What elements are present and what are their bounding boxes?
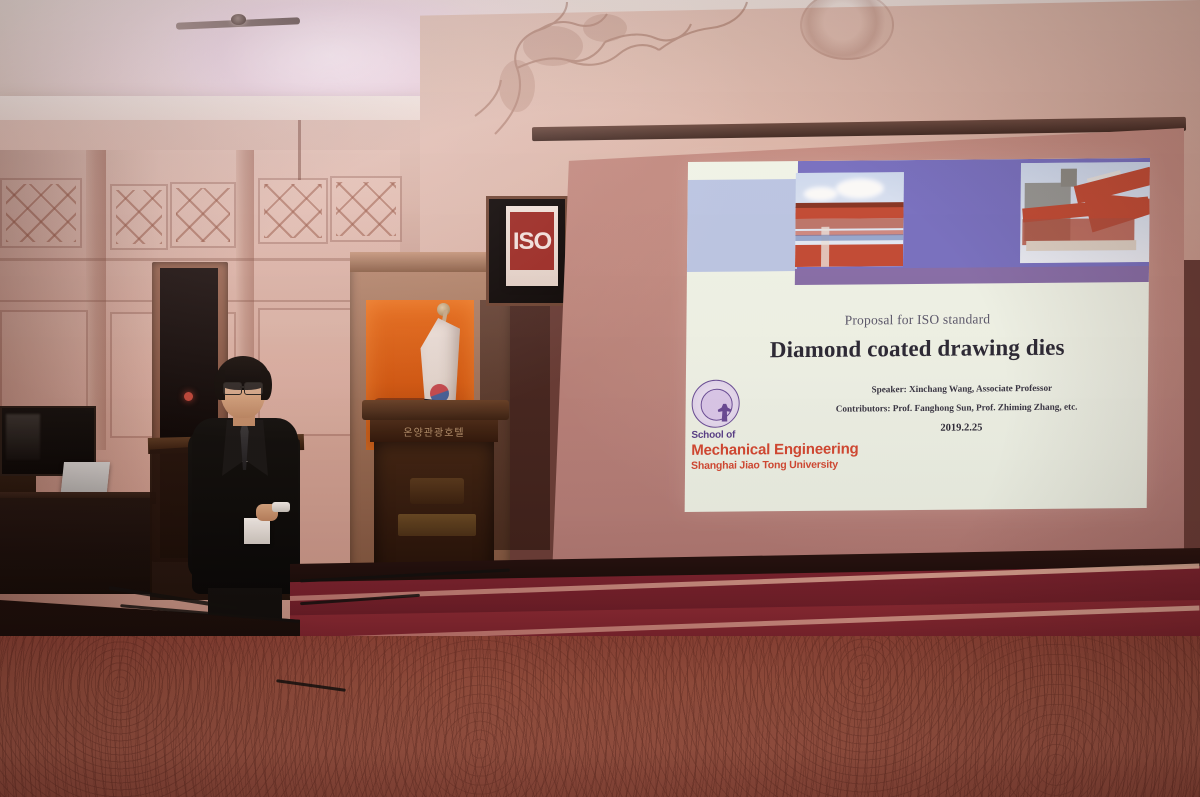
slide-header-banner bbox=[687, 158, 1150, 290]
glasses-lens-icon bbox=[223, 382, 242, 395]
glasses-lens-icon bbox=[244, 382, 263, 395]
sjtu-seal-inner-ring bbox=[701, 389, 733, 421]
glasses-bridge-icon bbox=[240, 386, 245, 388]
slide-footer-line-1: School of bbox=[691, 430, 735, 441]
banner-accent-strip bbox=[795, 266, 1149, 285]
podium-plaque bbox=[398, 514, 476, 536]
sjtu-seal-emblem-icon bbox=[718, 404, 732, 422]
recessed-downlight-icon bbox=[231, 14, 246, 25]
av-table bbox=[0, 498, 152, 594]
podium-venue-sign-text: 온양관광호텔 bbox=[403, 424, 464, 439]
name-badge bbox=[244, 518, 270, 544]
podium-venue-sign: 온양관광호텔 bbox=[370, 420, 498, 442]
slide-footer-line-3: Shanghai Jiao Tong University bbox=[691, 459, 838, 472]
banner-blue-block bbox=[687, 179, 798, 272]
monitor-reflection bbox=[6, 414, 40, 460]
podium-emblem bbox=[410, 478, 464, 504]
podium-top-surface bbox=[362, 400, 509, 420]
temple-eave-photo bbox=[1020, 162, 1150, 263]
chinese-palace-roof-photo bbox=[795, 172, 904, 267]
projected-slide: Proposal for ISO standard Diamond coated… bbox=[685, 158, 1150, 512]
wall-corner-line bbox=[298, 120, 301, 180]
slide-title: Diamond coated drawing dies bbox=[686, 334, 1148, 364]
slide-footer-line-2: Mechanical Engineering bbox=[691, 440, 858, 458]
presentation-remote bbox=[272, 502, 290, 512]
carpet-pattern bbox=[0, 636, 1200, 797]
photo-scene: ISO bbox=[0, 0, 1200, 797]
